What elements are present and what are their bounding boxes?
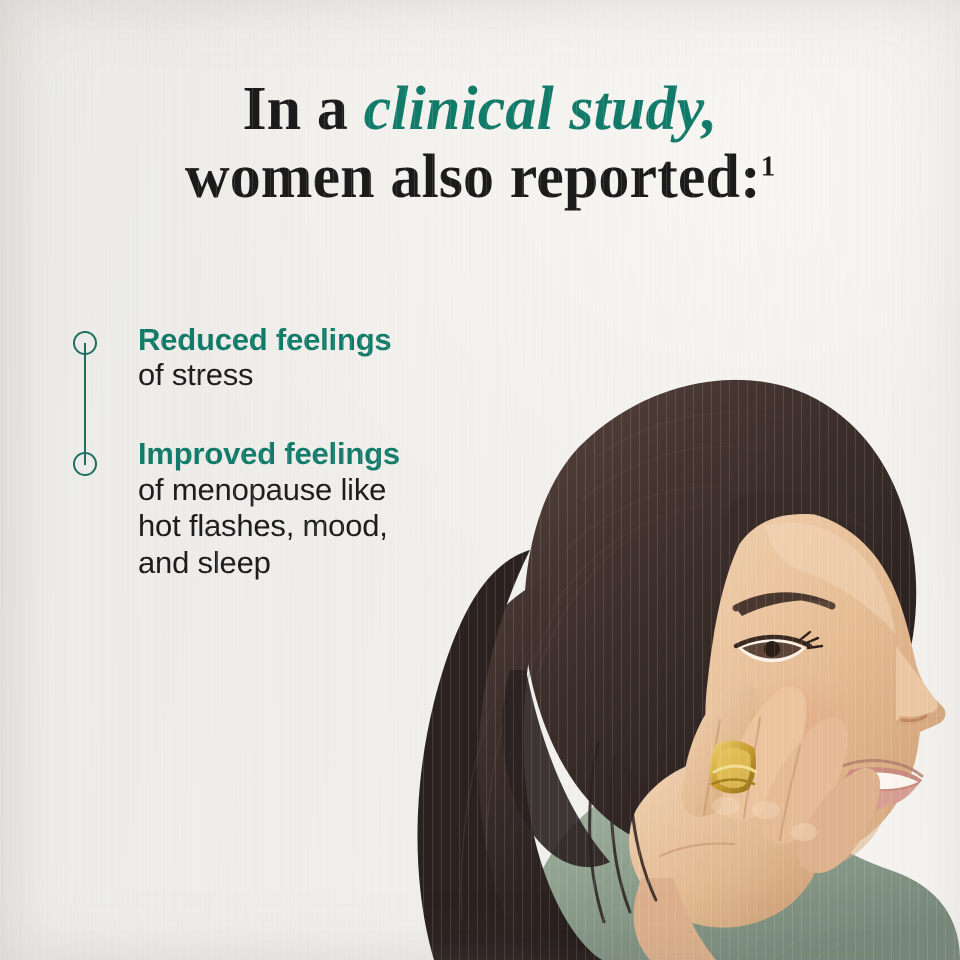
benefit-body: of menopause like hot flashes, mood, and… [138, 472, 452, 583]
benefit-heading: Improved feelings [138, 436, 452, 471]
headline-emphasis: clinical study, [364, 75, 718, 143]
list-item: Reduced feelings of stress [138, 322, 452, 394]
headline-line2-text: women also reported: [185, 143, 761, 211]
headline-line-1: In a clinical study, [0, 78, 960, 142]
headline-prefix: In a [242, 75, 363, 143]
footnote-superscript: 1 [761, 151, 775, 182]
headline-line-2: women also reported:1 [0, 146, 960, 210]
benefit-body: of stress [138, 357, 452, 394]
benefit-body-line: hot flashes, mood, [138, 508, 452, 545]
benefit-body-line: of menopause like [138, 472, 452, 509]
circle-outline-icon-top [73, 331, 97, 355]
benefit-heading: Reduced feelings [138, 322, 452, 357]
promo-panel: In a clinical study, women also reported… [0, 0, 960, 960]
list-item: Improved feelings of menopause like hot … [138, 436, 452, 582]
gold-ring-icon [710, 741, 756, 794]
rail-connector-line [84, 343, 86, 465]
circle-outline-icon-bottom [73, 452, 97, 476]
benefit-body-line: and sleep [138, 545, 452, 582]
benefit-body-line: of stress [138, 357, 452, 394]
benefits-list: Reduced feelings of stress Improved feel… [72, 322, 452, 582]
page-headline: In a clinical study, women also reported… [0, 78, 960, 210]
benefit-connector-rail [72, 330, 98, 478]
